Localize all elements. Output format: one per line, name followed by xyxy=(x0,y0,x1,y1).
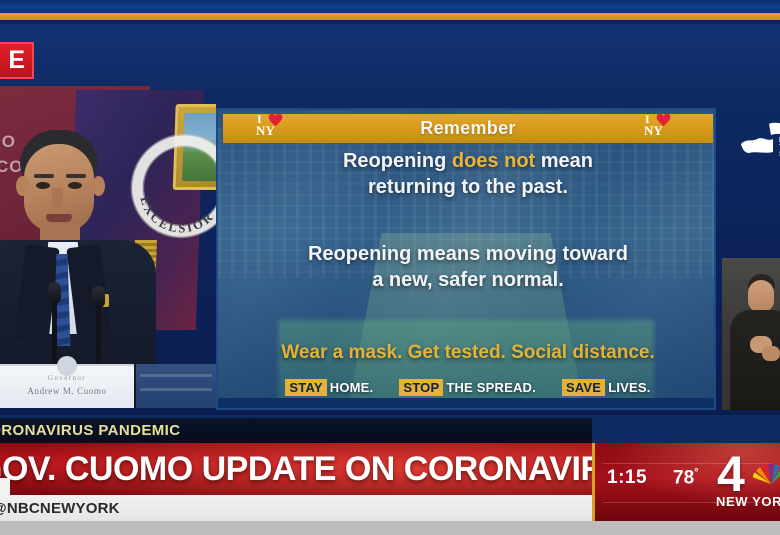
ticker-footer-bar xyxy=(0,521,780,535)
broadcast-screen: E IO CO xyxy=(0,0,780,535)
i-love-ny-logo: I NY xyxy=(256,113,288,137)
clock-display: 1:15 xyxy=(607,467,647,489)
temperature-value: 78 xyxy=(673,467,694,488)
i-love-ny-ny: NY xyxy=(644,124,663,137)
channel-number: 4 xyxy=(717,449,745,499)
social-bar: @NBCNEWYORK xyxy=(0,495,592,521)
sign-language-interpreter xyxy=(722,258,780,410)
nameplate-seal-icon xyxy=(57,356,77,376)
slide-title: Remember xyxy=(420,118,515,139)
cta-tag: STAYHOME. xyxy=(285,380,373,395)
cta-tag-rest: THE SPREAD. xyxy=(446,380,536,395)
slide-line-2: returning to the past. xyxy=(218,174,716,200)
slide-header-bar: Remember xyxy=(223,114,713,143)
slide-body-text: Reopening does not mean returning to the… xyxy=(218,148,716,294)
headline-bar: GOV. CUOMO UPDATE ON CORONAVIRUS xyxy=(0,443,592,495)
cta-headline: Wear a mask. Get tested. Social distance… xyxy=(218,342,716,364)
i-love-ny-logo: I NY xyxy=(644,113,676,137)
live-badge: E xyxy=(0,42,34,79)
i-love-ny-ny: NY xyxy=(256,124,275,137)
slide-line-1: Reopening does not mean xyxy=(218,148,716,174)
temperature-display: 78° xyxy=(673,467,699,489)
topic-label: CORONAVIRUS PANDEMIC xyxy=(0,422,180,439)
station-market-label: NEW YORK xyxy=(716,494,780,509)
nameplate-name: Andrew M. Cuomo xyxy=(0,386,134,396)
gold-stripe-shadow xyxy=(0,20,780,24)
desk-edge xyxy=(0,408,216,415)
slide-line-1b: mean xyxy=(535,150,593,172)
cta-tag-highlight: STAY xyxy=(285,379,326,396)
presentation-slide: Remember I NY I NY Reopening does not me… xyxy=(216,108,716,410)
microphone-stand xyxy=(52,296,57,372)
ticker-notch xyxy=(0,478,10,498)
cta-tag-highlight: STOP xyxy=(399,379,443,396)
station-info-panel: 1:15 78° 4 NEW YORK xyxy=(592,443,780,521)
live-badge-label: E xyxy=(8,46,26,75)
topic-bar: CORONAVIRUS PANDEMIC xyxy=(0,418,592,443)
nameplate: Governor Andrew M. Cuomo xyxy=(0,364,134,408)
excelsior-motto-ribbon: EXCELSIOR xyxy=(123,128,216,244)
social-handle: @NBCNEWYORK xyxy=(0,500,120,517)
gold-accent-stripe xyxy=(0,13,780,20)
slide-line-1-emphasis: does not xyxy=(452,150,535,172)
slide-line-3: Reopening means moving toward xyxy=(218,241,716,267)
nameplate-title: Governor xyxy=(0,374,134,382)
slide-line-4: a new, safer normal. xyxy=(218,267,716,293)
slide-footer-bar xyxy=(218,398,716,408)
degree-symbol: ° xyxy=(694,467,698,479)
microphone-head xyxy=(92,286,105,308)
cta-tag-highlight: SAVE xyxy=(562,379,605,396)
nbc-peacock-icon xyxy=(753,457,780,493)
cta-tag: STOPTHE SPREAD. xyxy=(399,380,536,395)
cta-tag-list: STAYHOME. STOPTHE SPREAD. SAVELIVES. xyxy=(218,380,716,395)
podium-scene: IO CO EXCELSIOR xyxy=(0,86,216,415)
headline-text: GOV. CUOMO UPDATE ON CORONAVIRUS xyxy=(0,450,592,489)
new-york-state-logo-icon: NE YO ST xyxy=(739,118,780,164)
cta-tag-rest: HOME. xyxy=(330,380,374,395)
cta-tag: SAVELIVES. xyxy=(562,380,651,395)
slide-line-1a: Reopening xyxy=(343,150,452,172)
desk-panel xyxy=(136,364,216,408)
cta-tag-rest: LIVES. xyxy=(608,380,650,395)
slide-call-to-action: Wear a mask. Get tested. Social distance… xyxy=(218,342,716,395)
microphone-head xyxy=(48,282,61,304)
top-band xyxy=(0,0,780,13)
microphone-stand xyxy=(96,300,101,372)
